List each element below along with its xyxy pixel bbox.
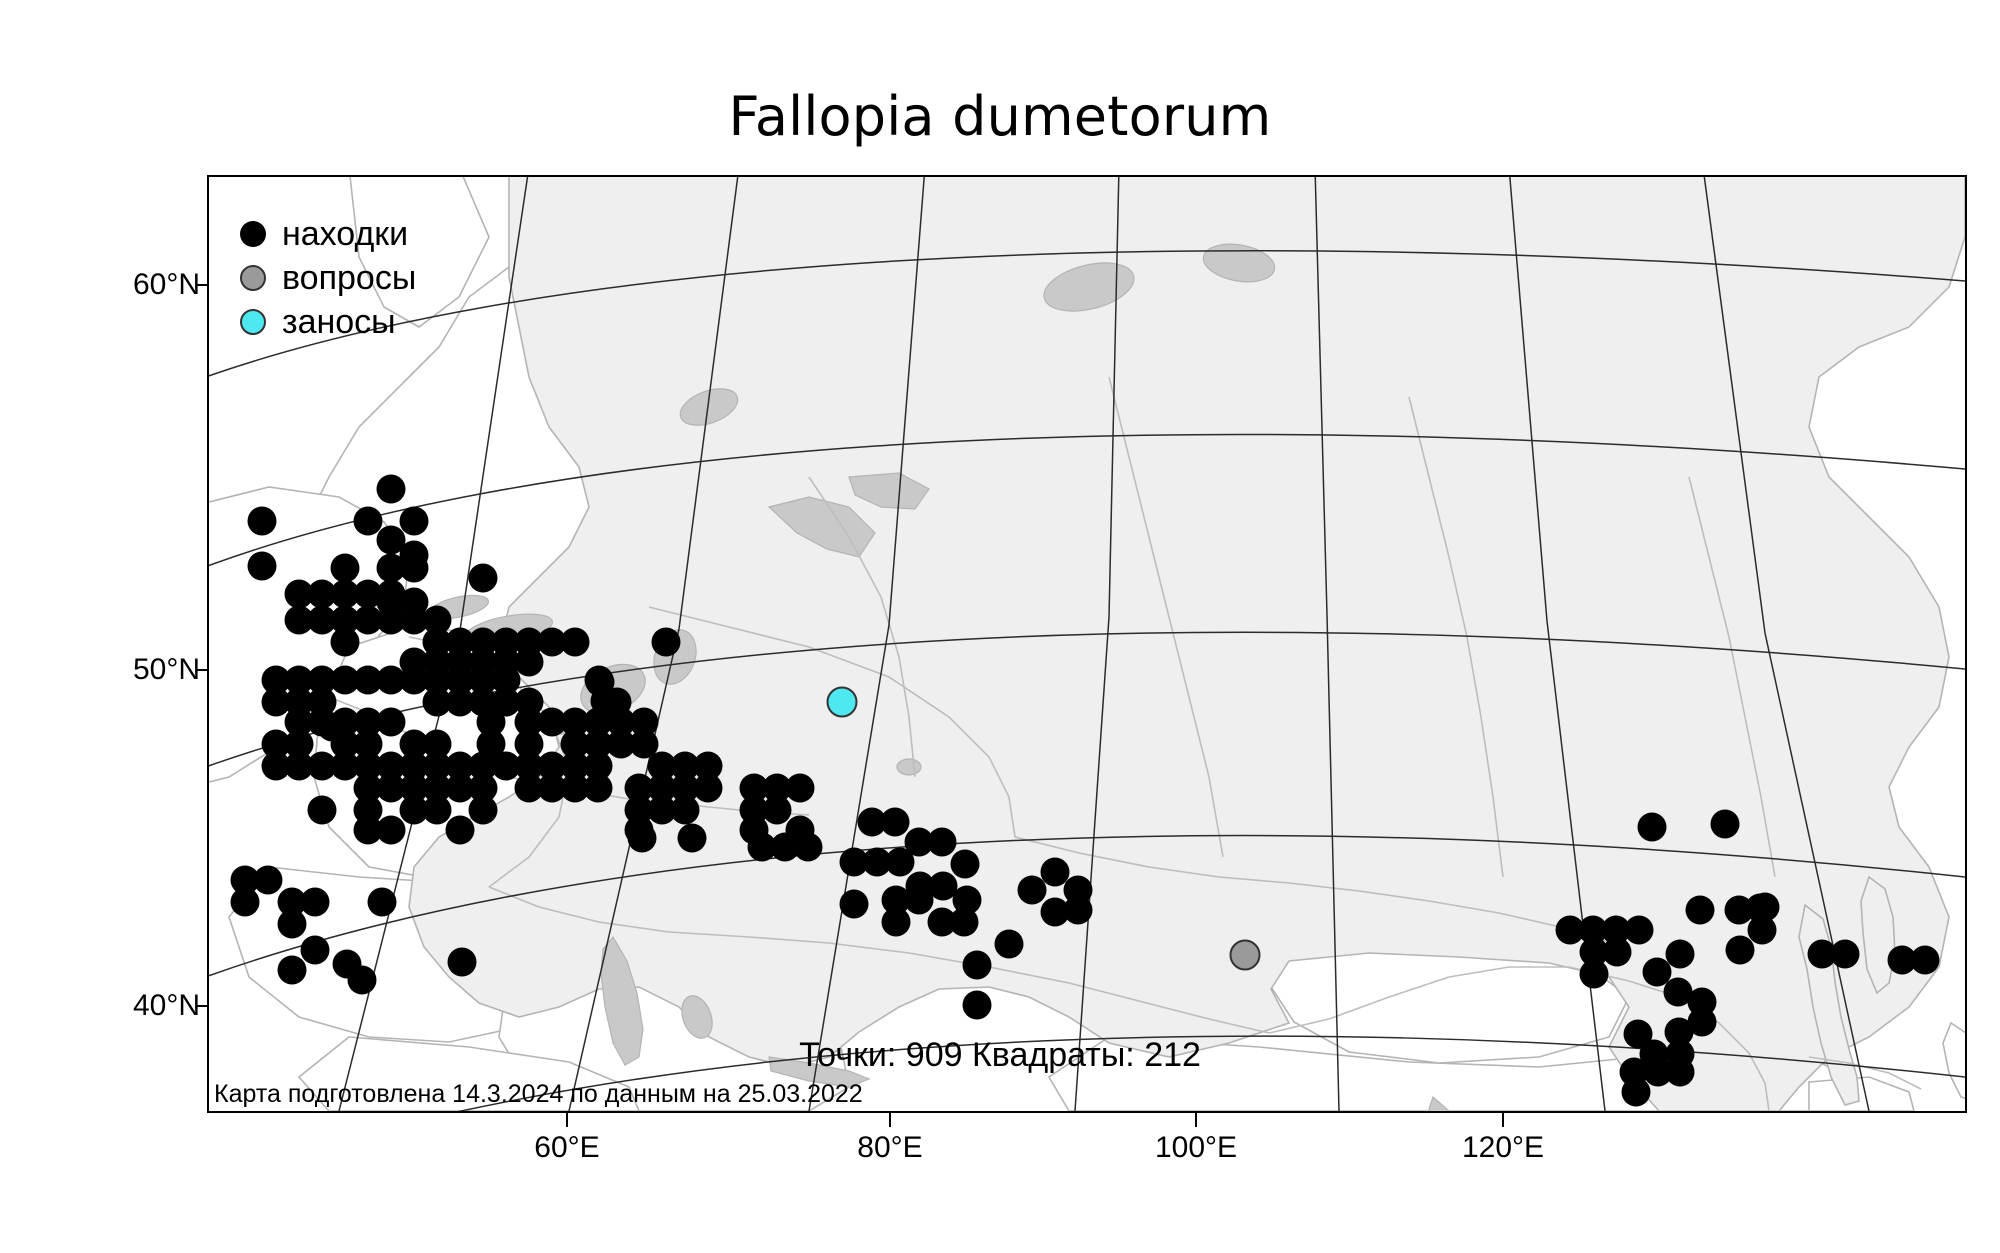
occurrence-point[interactable] [423,796,452,825]
occurrence-point[interactable] [840,890,869,919]
ytick-label-60n: 60°N [60,268,200,302]
occurrence-point[interactable] [678,824,707,853]
occurrence-point[interactable] [786,774,815,803]
occurrence-point[interactable] [963,991,992,1020]
occurrence-point[interactable] [928,828,957,857]
occurrence-point[interactable] [354,507,383,536]
occurrence-point[interactable] [278,910,307,939]
occurrence-point[interactable] [1726,936,1755,965]
legend-label-voprosy: вопросы [282,261,416,295]
occurrence-point[interactable] [905,886,934,915]
occurrence-point[interactable] [561,628,590,657]
occurrence-point[interactable] [469,796,498,825]
point-series-заносы [828,688,857,717]
occurrence-point[interactable] [1711,810,1740,839]
occurrence-point[interactable] [1643,958,1672,987]
xtick-label-120e: 120°E [1413,1131,1593,1165]
occurrence-point[interactable] [301,888,330,917]
occurrence-point[interactable] [1603,938,1632,967]
legend-label-zanosy: заносы [282,305,396,339]
occurrence-point[interactable] [828,688,857,717]
occurrence-point[interactable] [1231,941,1260,970]
occurrence-point[interactable] [628,824,657,853]
occurrence-point[interactable] [446,816,475,845]
occurrence-point[interactable] [1041,858,1070,887]
occurrence-point[interactable] [1625,916,1654,945]
xtick-mark-120e [1502,1113,1504,1127]
occurrence-point[interactable] [308,796,337,825]
occurrence-point[interactable] [995,930,1024,959]
occurrence-point[interactable] [1666,940,1695,969]
occurrence-point[interactable] [248,507,277,536]
point-series-вопросы [1231,941,1260,970]
xtick-label-100e: 100°E [1106,1131,1286,1165]
occurrence-point[interactable] [1018,876,1047,905]
occurrence-point[interactable] [377,580,406,609]
occurrence-point[interactable] [1041,898,1070,927]
occurrence-point[interactable] [763,796,792,825]
occurrence-point[interactable] [694,774,723,803]
occurrence-point[interactable] [377,475,406,504]
legend-item-nakhodki[interactable]: находки [240,212,416,256]
occurrence-point[interactable] [331,554,360,583]
occurrence-point[interactable] [231,888,260,917]
occurrence-point[interactable] [515,648,544,677]
occurrence-point[interactable] [448,948,477,977]
occurrence-point[interactable] [881,808,910,837]
legend-label-nakhodki: находки [282,217,408,251]
occurrence-point[interactable] [951,850,980,879]
xtick-mark-100e [1195,1113,1197,1127]
legend-item-zanosy[interactable]: заносы [240,300,416,344]
stats-text: Точки: 909 Квадраты: 212 [0,1036,2000,1075]
occurrence-point[interactable] [1638,813,1667,842]
occurrence-points-layer [209,177,1965,1111]
xtick-label-60e: 60°E [477,1131,657,1165]
xtick-label-80e: 80°E [800,1131,980,1165]
occurrence-point[interactable] [278,956,307,985]
occurrence-point[interactable] [1622,1078,1651,1107]
filled-circle-icon-black [240,221,266,247]
legend-item-voprosy[interactable]: вопросы [240,256,416,300]
occurrence-point[interactable] [584,774,613,803]
occurrence-point[interactable] [368,888,397,917]
occurrence-point[interactable] [1911,946,1940,975]
occurrence-point[interactable] [1831,940,1860,969]
occurrence-point[interactable] [652,628,681,657]
occurrence-point[interactable] [671,796,700,825]
credit-text: Карта подготовлена 14.3.2024 по данным н… [214,1080,863,1109]
map-plot-area[interactable] [207,175,1967,1113]
map-legend: находки вопросы заносы [240,212,416,344]
occurrence-point[interactable] [794,833,823,862]
occurrence-point[interactable] [963,951,992,980]
occurrence-point[interactable] [377,526,406,555]
occurrence-point[interactable] [348,966,377,995]
occurrence-point[interactable] [248,552,277,581]
occurrence-point[interactable] [301,936,330,965]
occurrence-point[interactable] [377,708,406,737]
occurrence-point[interactable] [254,866,283,895]
ytick-label-50n: 50°N [60,653,200,687]
occurrence-point[interactable] [882,908,911,937]
page-title: Fallopia dumetorum [0,85,2000,148]
occurrence-point[interactable] [950,908,979,937]
occurrence-point[interactable] [400,507,429,536]
occurrence-point[interactable] [400,554,429,583]
occurrence-point[interactable] [1748,916,1777,945]
filled-circle-icon-cyan [240,309,266,335]
xtick-mark-80e [889,1113,891,1127]
xtick-mark-60e [566,1113,568,1127]
occurrence-point[interactable] [377,816,406,845]
point-series-находки [231,475,1940,1107]
occurrence-point[interactable] [469,564,498,593]
occurrence-point[interactable] [331,628,360,657]
occurrence-point[interactable] [1686,896,1715,925]
map-figure: Fallopia dumetorum 60°N 50°N 40°N 60°E 8… [0,0,2000,1253]
occurrence-point[interactable] [1580,960,1609,989]
ytick-label-40n: 40°N [60,989,200,1023]
filled-circle-icon-gray [240,265,266,291]
